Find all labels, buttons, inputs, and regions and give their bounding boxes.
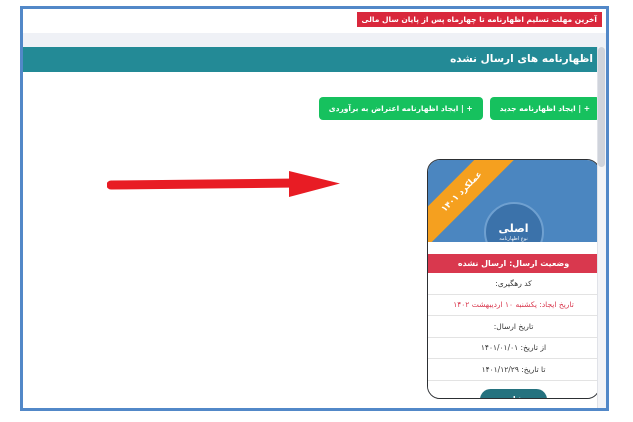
card-header-gap bbox=[428, 242, 599, 254]
action-button-row: + | ایجاد اظهارنامه جدید + | ایجاد اظهار… bbox=[319, 97, 600, 120]
scrollbar[interactable] bbox=[597, 47, 606, 408]
declaration-card[interactable]: عملکرد ۱۴۰۱ اصلی نوع اظهارنامه وضعیت ارس… bbox=[427, 159, 600, 399]
screenshot-root: آخرین مهلت تسلیم اظهارنامه تا چهارماه پس… bbox=[0, 0, 633, 422]
view-declaration-button[interactable]: مشاهده bbox=[480, 389, 547, 400]
status-badge: وضعیت ارسال: ارسال نشده bbox=[428, 254, 599, 273]
list-item: از تاریخ: ۱۴۰۱/۰۱/۰۱ bbox=[428, 338, 599, 360]
list-item: تا تاریخ: ۱۴۰۱/۱۲/۲۹ bbox=[428, 359, 599, 381]
detail-text: از تاریخ: ۱۴۰۱/۰۱/۰۱ bbox=[481, 343, 546, 352]
objection-declaration-button[interactable]: + | ایجاد اظهارنامه اعتراض به برآوردی bbox=[319, 97, 483, 120]
new-declaration-button[interactable]: + | ایجاد اظهارنامه جدید bbox=[490, 97, 600, 120]
list-item: کد رهگیری: bbox=[428, 273, 599, 295]
detail-text: کد رهگیری: bbox=[495, 279, 531, 288]
main-content: + | ایجاد اظهارنامه جدید + | ایجاد اظهار… bbox=[23, 72, 606, 408]
card-footer: مشاهده bbox=[428, 381, 599, 400]
list-item: تاریخ ایجاد: یکشنبه ۱۰ اردیبهشت ۱۴۰۲ bbox=[428, 295, 599, 317]
card-header: عملکرد ۱۴۰۱ اصلی نوع اظهارنامه bbox=[428, 160, 599, 242]
list-item: تاریخ ارسال: bbox=[428, 316, 599, 338]
declaration-type-value: اصلی bbox=[498, 222, 528, 235]
gray-separator-strip bbox=[23, 33, 606, 47]
annotation-frame: آخرین مهلت تسلیم اظهارنامه تا چهارماه پس… bbox=[20, 6, 609, 411]
annotation-arrow-icon bbox=[107, 170, 340, 198]
page-title: اظهارنامه های ارسال نشده bbox=[450, 47, 593, 72]
declaration-type-badge: اصلی نوع اظهارنامه bbox=[484, 202, 544, 242]
section-header: اظهارنامه های ارسال نشده bbox=[23, 47, 606, 72]
detail-text: تا تاریخ: ۱۴۰۱/۱۲/۲۹ bbox=[482, 365, 546, 374]
banner-row: آخرین مهلت تسلیم اظهارنامه تا چهارماه پس… bbox=[23, 9, 606, 33]
detail-text: تاریخ ارسال: bbox=[494, 322, 534, 331]
deadline-banner: آخرین مهلت تسلیم اظهارنامه تا چهارماه پس… bbox=[357, 12, 602, 27]
declaration-type-label: نوع اظهارنامه bbox=[499, 236, 527, 242]
detail-text: تاریخ ایجاد: یکشنبه ۱۰ اردیبهشت ۱۴۰۲ bbox=[453, 300, 574, 309]
scrollbar-thumb[interactable] bbox=[598, 47, 605, 167]
